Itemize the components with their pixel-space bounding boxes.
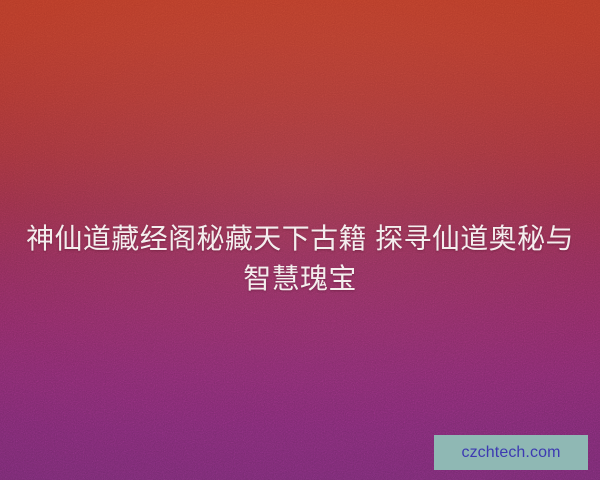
watermark-label: czchtech.com xyxy=(461,445,560,461)
banner-image: 神仙道藏经阁秘藏天下古籍 探寻仙道奥秘与智慧瑰宝 czchtech.com xyxy=(0,0,600,480)
watermark-badge: czchtech.com xyxy=(434,435,588,470)
headline-text: 神仙道藏经阁秘藏天下古籍 探寻仙道奥秘与智慧瑰宝 xyxy=(0,219,600,299)
